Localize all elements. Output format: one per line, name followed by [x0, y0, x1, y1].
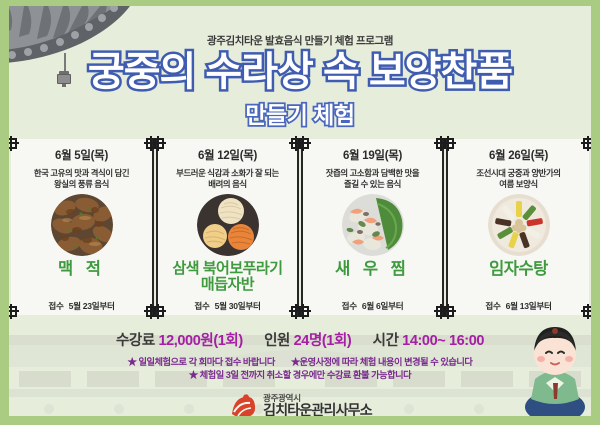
card-receipt-info: 접수5월 23일부터 — [11, 300, 152, 312]
corner-motif-icon — [296, 136, 311, 151]
corner-motif-icon — [151, 136, 166, 151]
card-receipt-label: 접수 — [48, 301, 63, 311]
imjasutang-soup-photo — [488, 194, 550, 256]
card-date: 6월 19일(목) — [343, 147, 402, 163]
card-description: 조선시대 궁중과 양반가의 여름 보양식 — [470, 168, 566, 192]
card-description-line1: 한국 고유의 맛과 격식이 담긴 — [34, 168, 129, 178]
card-dish-name: 삼색 북어보푸라기 매듭자반 — [172, 261, 282, 293]
card-date: 6월 5일(목) — [55, 147, 108, 163]
corner-motif-icon — [581, 136, 591, 151]
pollack-floss-photo — [197, 194, 259, 256]
page-subtitle: 만들기 체험 — [9, 104, 591, 127]
program-card-bukeo-bopuragi[interactable]: 6월 12일(목) 부드러운 식감과 소화가 잘 되는 배려의 음식 — [156, 139, 299, 315]
organization-name: 광주광역시 김치타운관리사무소 — [263, 394, 372, 416]
card-receipt-label: 접수 — [194, 301, 209, 311]
notice-text-1b: ★운영사정에 따라 체험 내용이 변경될 수 있습니다 — [291, 357, 472, 367]
grilled-pork-photo — [51, 194, 113, 256]
notice-line-1: ★ 일일체험으로 각 회마다 접수 바랍니다★운영사정에 따라 체험 내용이 변… — [9, 354, 591, 368]
program-card-imjasutang[interactable]: 6월 26일(목) 조선시대 궁중과 양반가의 여름 보양식 — [446, 139, 589, 315]
fee-label: 수강료 — [116, 333, 155, 349]
program-card-saeujjim[interactable]: 6월 19일(목) 잣즙의 고소함과 담백한 맛을 즐길 수 있는 음식 — [301, 139, 444, 315]
card-receipt-date: 6월 13일부터 — [506, 301, 552, 311]
organization-footer: 광주광역시 김치타운관리사무소 — [9, 389, 591, 416]
kimchi-town-logo-icon — [228, 392, 258, 416]
card-receipt-info: 접수5월 30일부터 — [158, 300, 297, 312]
capacity-label: 인원 — [264, 333, 290, 349]
program-kicker: 광주김치타운 발효음식 만들기 체험 프로그램 — [9, 33, 591, 48]
program-card-list: 6월 5일(목) 한국 고유의 맛과 격식이 담긴 왕실의 풍류 음식 — [9, 139, 591, 315]
card-date: 6월 26일(목) — [489, 147, 548, 163]
card-receipt-label: 접수 — [485, 301, 500, 311]
card-receipt-info: 접수6월 6일부터 — [303, 300, 442, 312]
card-description-line2: 여름 보양식 — [499, 179, 537, 189]
card-description: 잣즙의 고소함과 담백한 맛을 즐길 수 있는 음식 — [320, 168, 425, 192]
corner-motif-icon — [9, 136, 19, 151]
card-receipt-info: 접수6월 13일부터 — [448, 300, 589, 312]
card-description-line1: 조선시대 궁중과 양반가의 — [476, 168, 560, 178]
page-title: 궁중의 수라상 속 보양찬품 — [9, 52, 591, 92]
poster-root: 광주김치타운 발효음식 만들기 체험 프로그램 궁중의 수라상 속 보양찬품 만… — [0, 0, 600, 425]
card-receipt-label: 접수 — [342, 301, 357, 311]
steamed-shrimp-photo — [342, 194, 404, 256]
corner-motif-icon — [441, 136, 456, 151]
fee-value: 12,000원(1회) — [158, 333, 242, 349]
hanbok-character-illustration — [519, 321, 591, 416]
card-date: 6월 12일(목) — [198, 147, 257, 163]
card-dish-name: 임자수탕 — [489, 261, 548, 278]
card-description-line2: 왕실의 풍류 음식 — [54, 179, 109, 189]
time-value: 14:00~ 16:00 — [402, 333, 484, 349]
poster-footer-section: 수강료 12,000원(1회) 인원 24명(1회) 시간 14:00~ 16:… — [9, 315, 591, 416]
card-dish-name: 새 우 찜 — [335, 261, 410, 278]
card-dish-name: 맥 적 — [58, 261, 105, 278]
capacity-value: 24명(1회) — [294, 333, 352, 349]
card-description-line1: 부드러운 식감과 소화가 잘 되는 — [176, 168, 279, 178]
notice-line-2: ★ 체험일 3일 전까지 취소할 경우에만 수강료 환불 가능합니다 — [9, 367, 591, 381]
card-description: 부드러운 식감과 소화가 잘 되는 배려의 음식 — [170, 168, 285, 192]
card-receipt-date: 6월 6일부터 — [362, 301, 403, 311]
card-dish-name-line1: 삼색 북어보푸라기 — [172, 260, 282, 277]
time-label: 시간 — [373, 333, 399, 349]
footer-org: 김치타운관리사무소 — [263, 403, 372, 416]
card-description-line1: 잣즙의 고소함과 담백한 맛을 — [326, 168, 419, 178]
poster-canvas: 광주김치타운 발효음식 만들기 체험 프로그램 궁중의 수라상 속 보양찬품 만… — [9, 6, 591, 416]
card-dish-name-line2: 매듭자반 — [201, 276, 254, 293]
card-description: 한국 고유의 맛과 격식이 담긴 왕실의 풍류 음식 — [28, 168, 135, 192]
program-card-maekjeok[interactable]: 6월 5일(목) 한국 고유의 맛과 격식이 담긴 왕실의 풍류 음식 — [11, 139, 154, 315]
card-receipt-date: 5월 23일부터 — [69, 301, 115, 311]
card-description-line2: 배려의 음식 — [208, 179, 246, 189]
notice-text-1a: ★ 일일체험으로 각 회마다 접수 바랍니다 — [128, 357, 275, 367]
course-info-line: 수강료 12,000원(1회) 인원 24명(1회) 시간 14:00~ 16:… — [9, 329, 591, 350]
notice-text-2: ★ 체험일 3일 전까지 취소할 경우에만 수강료 환불 가능합니다 — [189, 370, 411, 380]
card-description-line2: 즐길 수 있는 음식 — [344, 179, 401, 189]
card-receipt-date: 5월 30일부터 — [215, 301, 261, 311]
